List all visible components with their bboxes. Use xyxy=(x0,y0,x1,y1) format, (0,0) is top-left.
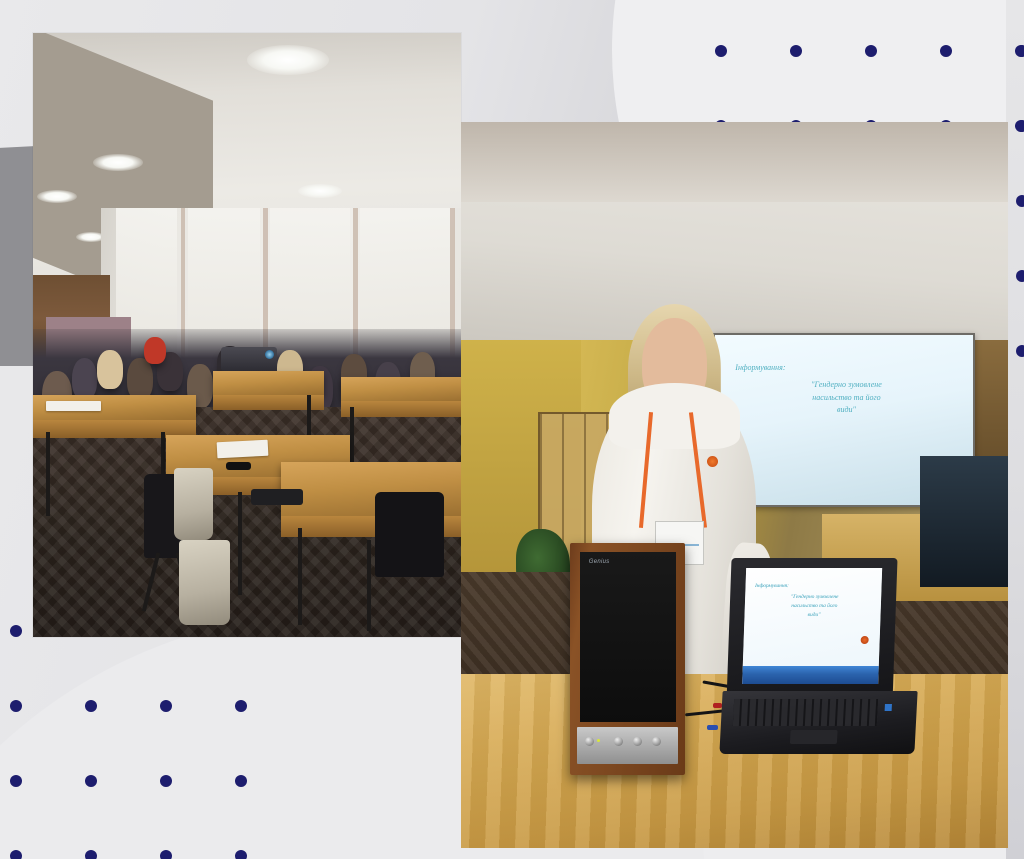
decorative-dot xyxy=(1016,120,1024,132)
slide-canvas: Інформування: "Гендерно зумовлене насиль… xyxy=(0,0,1024,859)
ceiling-light-2 xyxy=(93,154,143,171)
speaker-knob-2[interactable] xyxy=(614,737,623,746)
projector xyxy=(221,347,277,371)
smartphone xyxy=(226,462,252,470)
decorative-dot xyxy=(715,45,727,57)
decorative-dot xyxy=(10,775,22,787)
speaker-grille xyxy=(580,552,676,722)
projection-screen-text: Інформування: "Гендерно зумовлене насиль… xyxy=(735,362,957,417)
student-head xyxy=(97,350,123,389)
laptop-screen[interactable]: Інформування: "Гендерно зумовлене насиль… xyxy=(742,568,882,684)
decorative-dot xyxy=(235,700,247,712)
desk-leg xyxy=(298,528,302,625)
laptop-lid: Інформування: "Гендерно зумовлене насиль… xyxy=(726,558,897,703)
windows-taskbar[interactable] xyxy=(742,665,879,684)
decorative-dot xyxy=(85,700,97,712)
decorative-dot xyxy=(1016,45,1024,57)
vga-plug-blue xyxy=(707,725,718,730)
laptop-keyboard[interactable] xyxy=(732,698,878,726)
desk-edge xyxy=(341,401,461,416)
projector-lens xyxy=(265,350,274,359)
speaker-knob-3[interactable] xyxy=(633,737,642,746)
office-chair xyxy=(375,492,443,577)
student-head-red-jacket xyxy=(144,337,165,364)
laptop-slide-text: Інформування: "Гендерно зумовлене насиль… xyxy=(754,581,875,619)
paper-sheet xyxy=(217,439,269,457)
desk-back-right xyxy=(341,377,461,401)
decorative-dot xyxy=(235,850,247,859)
backpack xyxy=(174,468,213,540)
decorative-dot xyxy=(1016,270,1024,282)
decorative-dot xyxy=(85,775,97,787)
student-head xyxy=(72,358,98,401)
decorative-dot xyxy=(160,775,172,787)
desk-leg xyxy=(238,492,242,595)
hoodie-collar xyxy=(609,383,740,448)
student-head xyxy=(127,358,153,401)
desk-back-center xyxy=(213,371,324,395)
speaker-brand-label: Genius xyxy=(589,559,610,565)
speaker-knob-1[interactable] xyxy=(585,737,594,746)
decorative-dot xyxy=(865,45,877,57)
laptop-slide-area: Інформування: "Гендерно зумовлене насиль… xyxy=(743,568,883,665)
photo-classroom-audience xyxy=(33,33,461,637)
decorative-dot xyxy=(790,45,802,57)
laptop-slide-line-1: "Гендерно зумовлене xyxy=(754,593,874,602)
laptop-sticker-badge xyxy=(884,703,891,710)
decorative-dot xyxy=(10,625,22,637)
desk-leg xyxy=(46,432,50,517)
decorative-dot xyxy=(940,45,952,57)
slide-line-2: насильство та його xyxy=(735,392,957,404)
laptop-base xyxy=(719,691,918,754)
decorative-dot xyxy=(10,700,22,712)
laptop-slide-heading: Інформування: xyxy=(755,581,875,590)
laptop-slide-line-2: насильство та його xyxy=(754,602,874,611)
decorative-dot xyxy=(1016,345,1024,357)
canvas-tote-bag xyxy=(179,540,230,625)
laptop-slide-logo-icon xyxy=(861,636,869,644)
rca-plug-red xyxy=(713,703,722,708)
tablet-case xyxy=(251,489,302,505)
slide-heading: Інформування: xyxy=(735,362,957,374)
ceiling-light-1 xyxy=(247,45,329,75)
slide-line-3: види" xyxy=(735,404,957,416)
decorative-dot xyxy=(10,850,22,859)
laptop-slide-line-3: види" xyxy=(754,610,874,619)
photo-presenter: Інформування: "Гендерно зумовлене насиль… xyxy=(461,122,1008,848)
slide-line-1: "Гендерно зумовлене xyxy=(735,379,957,391)
decorative-dot xyxy=(1016,195,1024,207)
speaker-knob-4[interactable] xyxy=(652,737,661,746)
room-ceiling-upper xyxy=(461,122,1008,202)
speaker-control-panel xyxy=(577,727,678,764)
decorative-dot xyxy=(160,700,172,712)
samsung-laptop[interactable]: Інформування: "Гендерно зумовлене насиль… xyxy=(729,558,937,754)
laptop-touchpad[interactable] xyxy=(790,730,838,744)
papers-on-desk xyxy=(46,401,102,411)
decorative-dot xyxy=(235,775,247,787)
decorative-dot xyxy=(160,850,172,859)
decorative-dot xyxy=(85,850,97,859)
genius-speaker: Genius xyxy=(570,543,685,775)
desk-leg xyxy=(367,540,371,631)
speaker-power-led xyxy=(597,739,600,742)
